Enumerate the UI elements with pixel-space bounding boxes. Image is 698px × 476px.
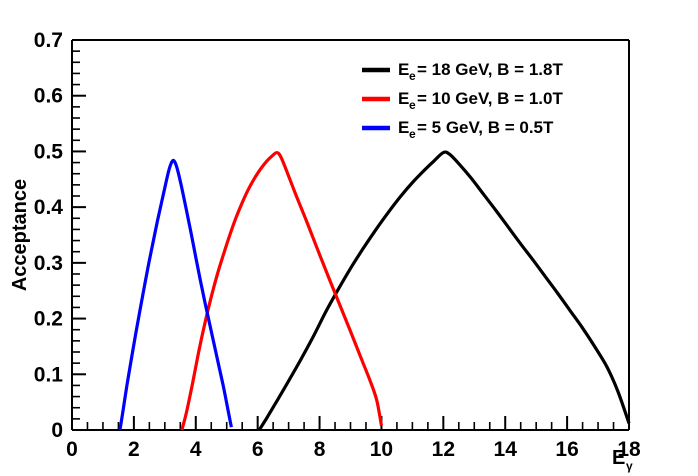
data-curve-1 <box>182 153 382 430</box>
legend-entry-1: Ee = 10 GeV, B = 1.0T <box>398 89 563 112</box>
legend-entry-2: Ee = 5 GeV, B = 0.5T <box>398 118 554 141</box>
legend-label-rest-0: = 18 GeV, B = 1.8T <box>417 60 563 79</box>
y-tick-label: 0.3 <box>34 252 63 275</box>
acceptance-vs-photon-energy-plot: 00.10.20.30.40.50.60.7024681012141618Acc… <box>0 0 698 476</box>
y-tick-label: 0 <box>51 419 63 442</box>
x-tick-label: 10 <box>370 438 393 461</box>
x-tick-label: 6 <box>252 438 264 461</box>
legend-label-subscript-1: e <box>409 98 416 112</box>
y-axis-title: Acceptance <box>9 179 31 291</box>
legend-label-subscript-0: e <box>409 69 416 83</box>
y-tick-label: 0.2 <box>34 308 63 331</box>
data-curve-2 <box>120 160 231 430</box>
x-tick-label: 2 <box>128 438 140 461</box>
data-curve-0 <box>259 152 629 430</box>
y-tick-label: 0.4 <box>34 196 64 219</box>
legend-label-rest-2: = 5 GeV, B = 0.5T <box>417 118 554 137</box>
x-tick-label: 12 <box>432 438 455 461</box>
legend-label-base-0: E <box>398 60 409 79</box>
y-tick-label: 0.6 <box>34 85 63 108</box>
y-tick-label: 0.1 <box>34 363 64 386</box>
y-tick-label: 0.5 <box>34 140 64 163</box>
x-tick-label: 8 <box>314 438 326 461</box>
y-tick-label: 0.7 <box>34 29 63 52</box>
x-axis-title: E <box>612 447 625 469</box>
x-axis-title-subscript: γ <box>626 459 633 473</box>
x-tick-label: 0 <box>66 438 78 461</box>
legend-label-subscript-2: e <box>409 127 416 141</box>
legend-label-base-1: E <box>398 89 409 108</box>
chart-canvas: 00.10.20.30.40.50.60.7024681012141618Acc… <box>0 0 698 476</box>
legend-entry-0: Ee = 18 GeV, B = 1.8T <box>398 60 563 83</box>
x-tick-label: 14 <box>494 438 518 461</box>
legend-label-rest-1: = 10 GeV, B = 1.0T <box>417 89 563 108</box>
x-tick-label: 16 <box>555 438 578 461</box>
x-tick-label: 4 <box>190 438 202 461</box>
legend-label-base-2: E <box>398 118 409 137</box>
